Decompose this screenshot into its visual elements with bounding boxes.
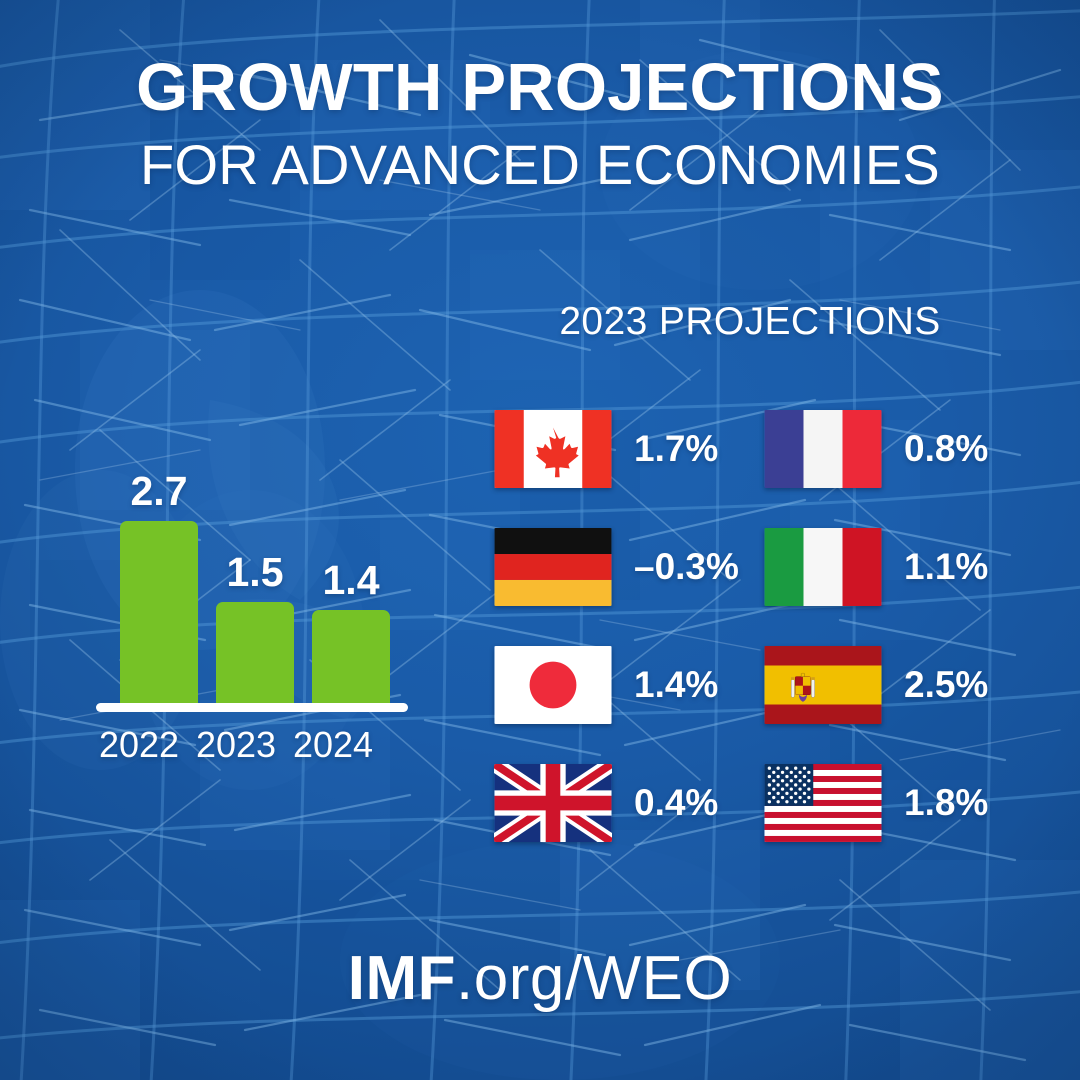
header-block: GROWTH PROJECTIONS FOR ADVANCED ECONOMIE… [0,54,1080,195]
chart-x-axis-labels: 2022 2023 2024 [92,720,412,766]
country-row-united-states: 1.8% [764,760,1014,846]
country-row-canada: 1.7% [494,406,744,492]
country-row-germany: –0.3% [494,524,744,610]
germany-flag-icon [494,528,612,606]
chart-baseline-axis [96,703,408,712]
page-title: GROWTH PROJECTIONS [0,54,1080,122]
canada-flag-icon [494,410,612,488]
projection-value-japan: 1.4% [634,664,718,706]
italy-flag-icon [764,528,882,606]
bar-2024 [312,610,390,706]
country-projection-grid: 1.7% 0.8% –0.3% [494,402,1014,862]
x-tick-2022: 2022 [84,724,194,766]
projection-value-canada: 1.7% [634,428,718,470]
bar-group-2022: 2.7 [120,476,198,706]
bar-value-2023: 1.5 [227,549,284,596]
infographic-canvas: GROWTH PROJECTIONS FOR ADVANCED ECONOMIE… [0,0,1080,1080]
bar-2023 [216,602,294,706]
country-row-united-kingdom: 0.4% [494,760,744,846]
growth-bar-chart: 2.7 1.5 1.4 2022 2023 2024 [78,440,428,770]
projection-value-germany: –0.3% [634,546,739,588]
projection-value-united-states: 1.8% [904,782,988,824]
united-states-flag-icon [764,764,882,842]
bar-value-2022: 2.7 [131,468,188,515]
x-tick-2024: 2024 [278,724,388,766]
united-kingdom-flag-icon [494,764,612,842]
footer-url-path: .org/WEO [456,944,732,1013]
country-row-italy: 1.1% [764,524,1014,610]
page-subtitle: FOR ADVANCED ECONOMIES [0,136,1080,195]
country-row-france: 0.8% [764,406,1014,492]
bar-2022 [120,521,198,706]
japan-flag-icon [494,646,612,724]
country-row-spain: 2.5% [764,642,1014,728]
bar-group-2023: 1.5 [216,476,294,706]
spain-flag-icon [764,646,882,724]
france-flag-icon [764,410,882,488]
projection-value-spain: 2.5% [904,664,988,706]
footer-brand-imf: IMF [348,944,456,1013]
projection-value-italy: 1.1% [904,546,988,588]
x-tick-2023: 2023 [181,724,291,766]
bar-value-2024: 1.4 [323,557,380,604]
bar-group-2024: 1.4 [312,476,390,706]
chart-bars: 2.7 1.5 1.4 [98,476,408,706]
projection-value-france: 0.8% [904,428,988,470]
country-row-japan: 1.4% [494,642,744,728]
projection-value-united-kingdom: 0.4% [634,782,718,824]
footer-url[interactable]: IMF.org/WEO [0,943,1080,1014]
projections-heading: 2023 PROJECTIONS [470,300,1030,344]
